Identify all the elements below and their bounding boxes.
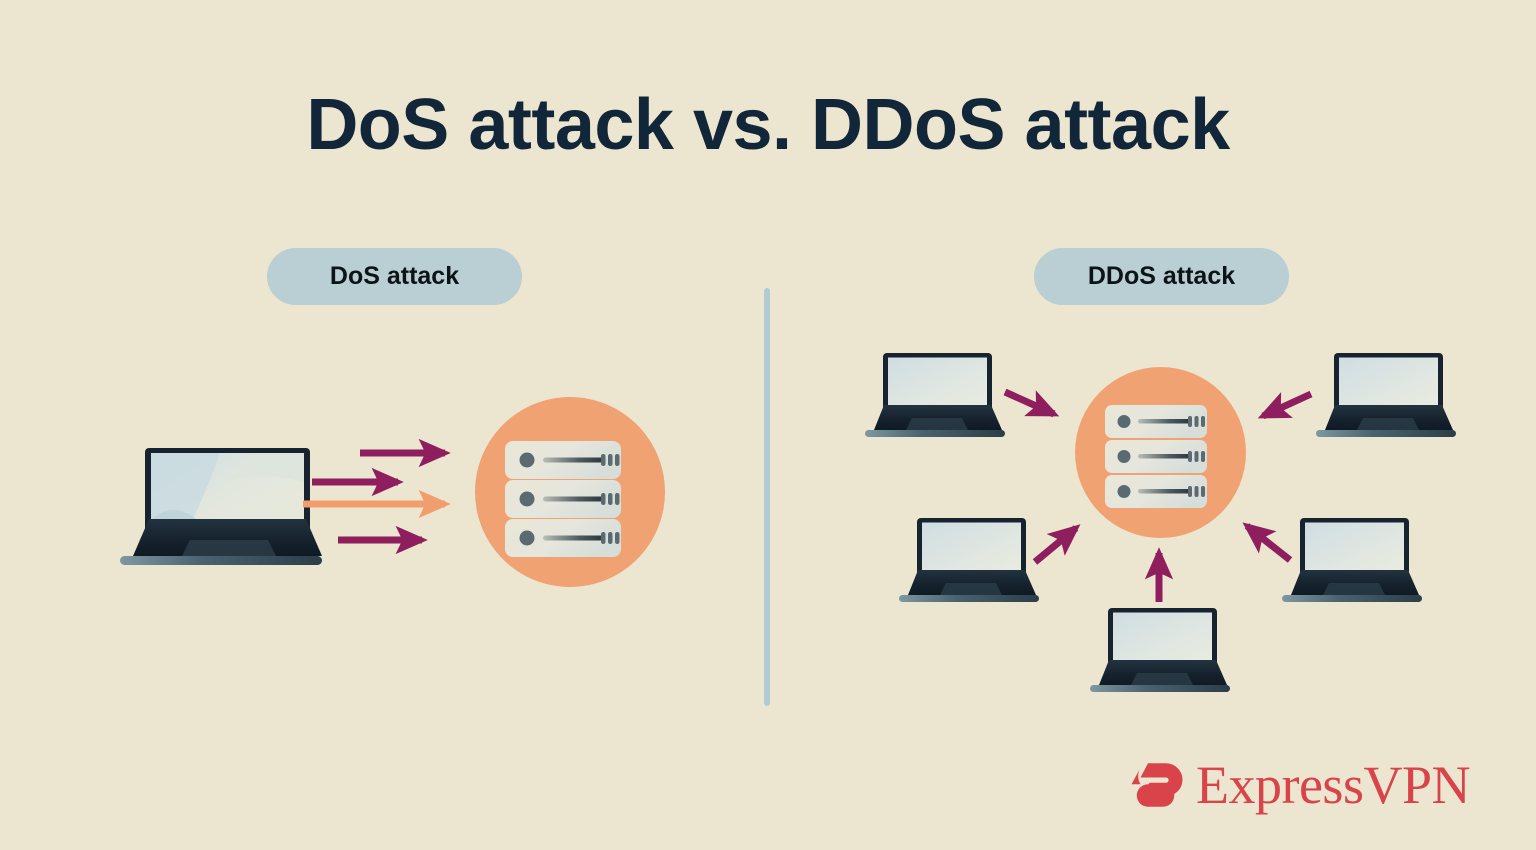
laptop-icon-top-right	[1316, 353, 1456, 437]
laptop-icon-middle-right	[1282, 518, 1422, 602]
expressvpn-e-logo-icon	[1130, 754, 1184, 816]
laptop-icon-middle-left	[899, 518, 1039, 602]
arrow-diagonal-icon-bottom-left	[1035, 528, 1076, 562]
attack-arrows-left	[303, 453, 445, 540]
laptop-icon-left-source	[120, 448, 322, 565]
arrow-diagonal-icon-bottom-right	[1247, 526, 1290, 560]
arrow-diagonal-icon-top-right	[1263, 394, 1311, 416]
infographic-canvas: DoS attack vs. DDoS attack DoS attack DD…	[0, 0, 1536, 850]
arrow-diagonal-icon-top-left	[1005, 392, 1054, 414]
laptop-icon-top-left	[865, 353, 1005, 437]
server-rack-icon-left	[505, 441, 621, 557]
expressvpn-logo: ExpressVPN	[1130, 745, 1470, 825]
illustration-layer	[0, 0, 1536, 850]
expressvpn-wordmark: ExpressVPN	[1196, 758, 1470, 812]
server-rack-icon-right	[1105, 405, 1207, 508]
laptop-icon-bottom-center	[1090, 608, 1230, 692]
